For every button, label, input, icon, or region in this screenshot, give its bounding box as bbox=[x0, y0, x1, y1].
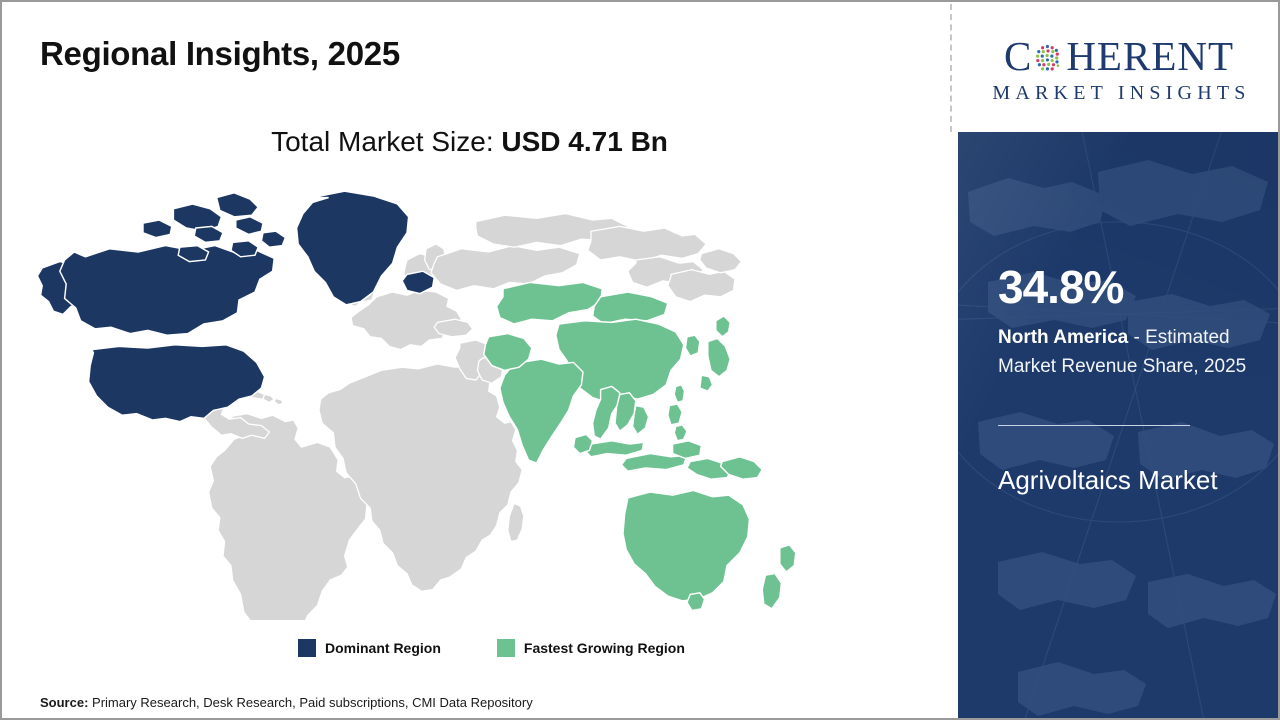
legend-swatch-fastest-growing bbox=[497, 639, 515, 657]
panel-divider-rule bbox=[998, 425, 1190, 426]
source-label: Source: bbox=[40, 695, 88, 710]
revenue-share-caption: North America - Estimated Market Revenue… bbox=[998, 324, 1248, 382]
revenue-share-region: North America bbox=[998, 327, 1128, 348]
logo-letter-c: C bbox=[1004, 36, 1032, 77]
world-map bbox=[30, 180, 840, 620]
vertical-divider bbox=[950, 4, 952, 132]
globe-icon bbox=[1033, 42, 1065, 74]
logo-letters-herent: HERENT bbox=[1066, 36, 1234, 77]
legend-swatch-dominant bbox=[298, 639, 316, 657]
total-market-size-value: USD 4.71 Bn bbox=[501, 126, 668, 157]
legend-item-dominant: Dominant Region bbox=[298, 639, 441, 657]
infographic-page: Regional Insights, 2025 Total Market Siz… bbox=[0, 0, 1280, 720]
total-market-size: Total Market Size: USD 4.71 Bn bbox=[2, 126, 937, 158]
brand-logo: C HERENT MARKET INSIGHTS bbox=[958, 4, 1280, 130]
legend-label-dominant: Dominant Region bbox=[325, 640, 441, 656]
left-content-area: Regional Insights, 2025 Total Market Siz… bbox=[2, 2, 950, 718]
stat-panel: 34.8% North America - Estimated Market R… bbox=[958, 132, 1280, 720]
market-name: Agrivoltaics Market bbox=[998, 462, 1228, 500]
logo-tagline: MARKET INSIGHTS bbox=[987, 82, 1250, 105]
map-legend: Dominant Region Fastest Growing Region bbox=[298, 639, 685, 657]
map-fastest-growing-region bbox=[484, 282, 796, 610]
legend-label-fastest-growing: Fastest Growing Region bbox=[524, 640, 685, 656]
revenue-share-value: 34.8% bbox=[998, 264, 1123, 310]
panel-content: 34.8% North America - Estimated Market R… bbox=[998, 132, 1248, 720]
legend-item-fastest-growing: Fastest Growing Region bbox=[497, 639, 685, 657]
page-title: Regional Insights, 2025 bbox=[40, 35, 400, 73]
source-note: Source: Primary Research, Desk Research,… bbox=[40, 695, 533, 710]
logo-wordmark: C HERENT bbox=[1004, 36, 1234, 77]
total-market-size-label: Total Market Size: bbox=[271, 126, 501, 157]
source-text: Primary Research, Desk Research, Paid su… bbox=[88, 695, 532, 710]
